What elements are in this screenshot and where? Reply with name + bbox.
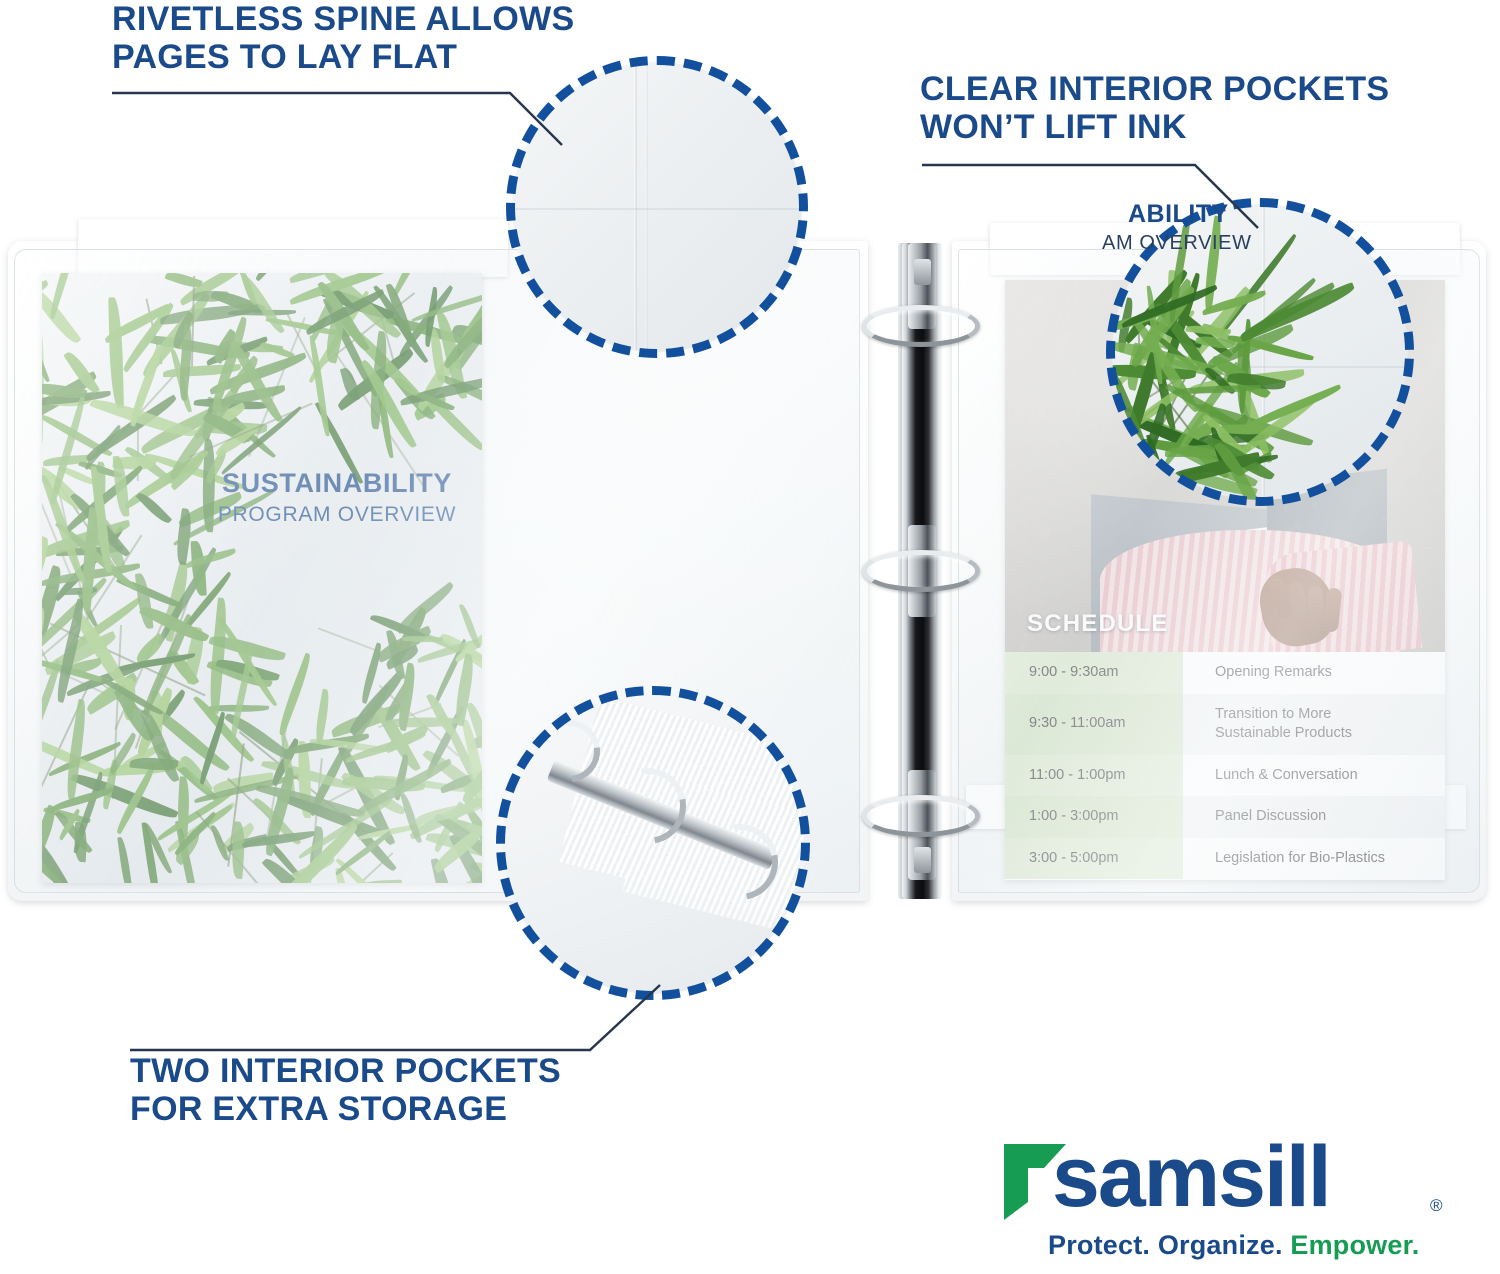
spine-crease-line-2 — [645, 62, 648, 352]
magnifier-spine-detail — [512, 62, 802, 352]
leader-line-spine — [112, 93, 562, 145]
bamboo-leaf — [1202, 216, 1225, 312]
spine-crease-line — [634, 62, 637, 352]
magnifier-pockets-detail — [1112, 204, 1408, 500]
spine-detail-surface — [512, 62, 802, 352]
tagline-part-1: Protect. Organize. — [1048, 1230, 1290, 1260]
samsill-logo: samsill ® Protect. Organize. Empower. — [1000, 1134, 1450, 1264]
magnifier-rings-detail — [502, 692, 804, 994]
spine-fold-line — [512, 208, 802, 210]
callout-pockets-text: CLEAR INTERIOR POCKETS WON’T LIFT INK — [920, 70, 1480, 147]
binder-ring-2 — [862, 550, 980, 592]
leader-line-storage — [130, 985, 660, 1050]
callout-storage-text: TWO INTERIOR POCKETS FOR EXTRA STORAGE — [130, 1052, 690, 1129]
samsill-wordmark: samsill — [1052, 1134, 1330, 1220]
binder-ring-3 — [862, 795, 980, 837]
callout-spine-text: RIVETLESS SPINE ALLOWS PAGES TO LAY FLAT — [112, 0, 672, 77]
three-ring-mechanism — [862, 225, 972, 915]
tagline-part-2: Empower. — [1290, 1230, 1419, 1260]
callout-rivetless-spine: RIVETLESS SPINE ALLOWS PAGES TO LAY FLAT — [112, 0, 672, 77]
registered-trademark-icon: ® — [1430, 1196, 1443, 1216]
release-trigger-top[interactable] — [914, 259, 931, 285]
pocket-bamboo-graphic — [1112, 204, 1408, 500]
product-feature-image: SUSTAINABILITY PROGRAM OVERVIEW SCHEDULE… — [0, 0, 1500, 1274]
binder-ring-1 — [862, 305, 980, 347]
callout-clear-pockets: CLEAR INTERIOR POCKETS WON’T LIFT INK — [920, 70, 1480, 147]
release-trigger-bottom[interactable] — [914, 847, 931, 873]
callout-two-pockets: TWO INTERIOR POCKETS FOR EXTRA STORAGE — [130, 1052, 690, 1129]
samsill-tagline: Protect. Organize. Empower. — [1048, 1230, 1420, 1261]
